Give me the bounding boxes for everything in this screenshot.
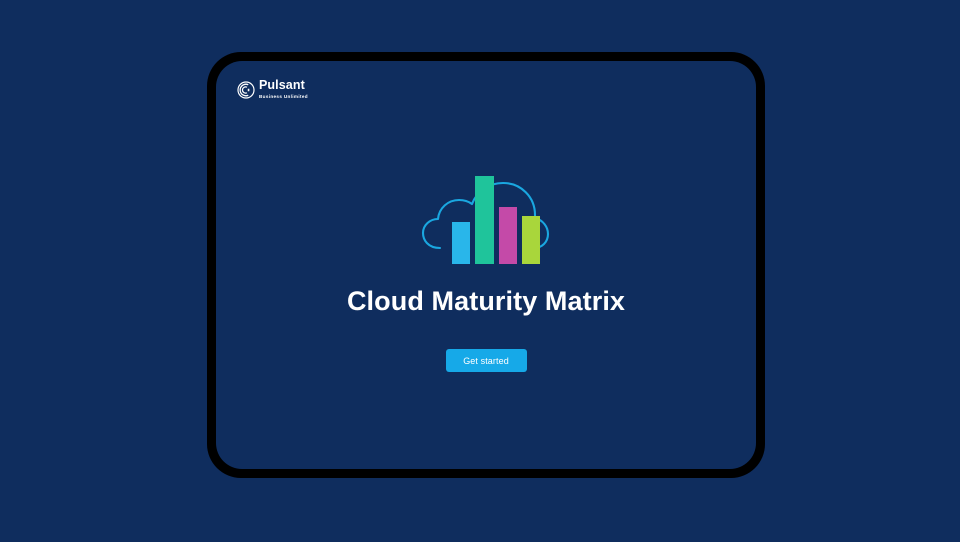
hero-section: Cloud Maturity Matrix Get started (216, 61, 756, 469)
get-started-button[interactable]: Get started (446, 349, 527, 372)
tablet-screen: Pulsant Business Unlimited Cloud Maturit… (216, 61, 756, 469)
bar-3 (499, 207, 517, 264)
page-title: Cloud Maturity Matrix (347, 286, 625, 317)
bar-2 (475, 176, 494, 264)
tablet-device-frame: Pulsant Business Unlimited Cloud Maturit… (207, 52, 765, 478)
bar-1 (452, 222, 470, 264)
bar-4 (522, 216, 540, 264)
cloud-bar-chart-icon (420, 172, 552, 264)
screenshot-canvas: Pulsant Business Unlimited Cloud Maturit… (0, 0, 960, 542)
